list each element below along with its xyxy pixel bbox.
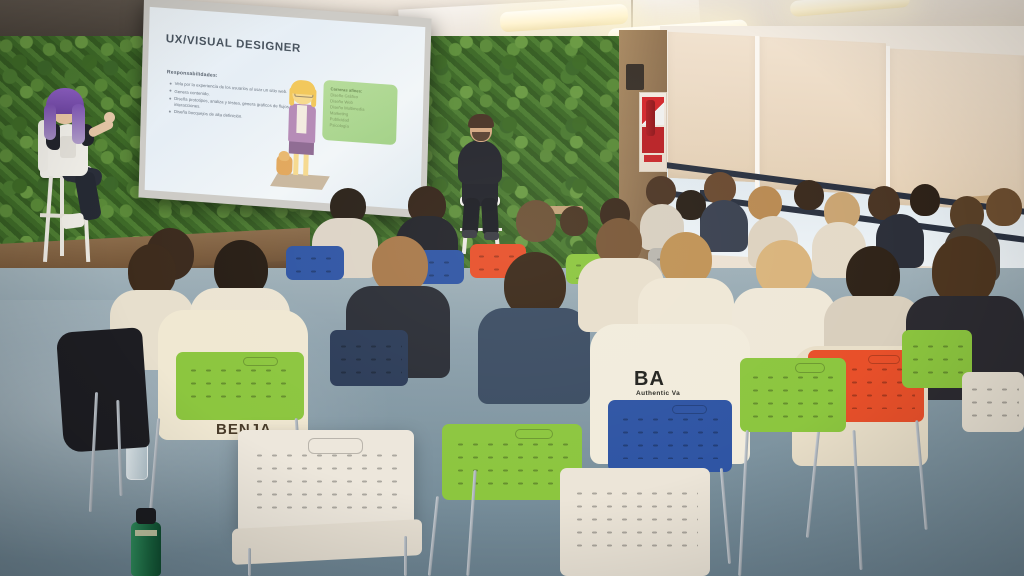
bullet-dot-icon — [169, 97, 171, 99]
audience-head — [748, 186, 782, 220]
chair-green — [740, 358, 846, 432]
chair-blue — [608, 400, 732, 472]
ceiling-hanger — [631, 0, 633, 28]
chair-blue — [330, 330, 408, 386]
chair-cream — [962, 372, 1024, 432]
photo-scene: UX/VISUAL DESIGNER Responsabilidades: Ve… — [0, 0, 1024, 576]
empty-chair-cream[interactable] — [560, 468, 710, 576]
audience-head — [560, 206, 588, 236]
audience-head — [516, 200, 556, 242]
garment-subtext: Authentic Va — [636, 390, 680, 397]
window-blind — [668, 32, 756, 183]
audience-head — [794, 180, 824, 210]
sneaker — [484, 232, 499, 240]
fire-extinguisher-icon — [646, 100, 655, 136]
blind-divider — [755, 36, 759, 196]
sneaker — [462, 230, 477, 238]
bullet-text: Genera contenido. — [174, 89, 209, 97]
garment-text: BA — [634, 368, 665, 391]
audience-head — [910, 184, 940, 216]
projection-screen: UX/VISUAL DESIGNER Responsabilidades: Ve… — [138, 0, 431, 219]
related-careers-box: Carreras afines: Diseño Gráfico Diseño W… — [322, 80, 398, 145]
audience-head — [986, 188, 1022, 226]
bullet-dot-icon — [170, 82, 172, 84]
window-blind — [760, 37, 886, 196]
chair-blue — [286, 246, 344, 280]
slide-section-label: Responsabilidades: — [167, 69, 218, 79]
audience-torso — [478, 308, 590, 404]
ceiling-shadow — [0, 0, 150, 40]
bullet-dot-icon — [169, 110, 171, 112]
wall-fixture — [626, 64, 644, 90]
audience-head — [704, 172, 736, 204]
bullet-dot-icon — [169, 90, 171, 92]
slide-title: UX/VISUAL DESIGNER — [166, 33, 301, 55]
draped-jacket — [56, 327, 150, 453]
empty-chair-cream[interactable] — [238, 430, 414, 534]
designer-character-illustration — [276, 78, 327, 197]
audience-head — [646, 176, 676, 206]
slide-surface: UX/VISUAL DESIGNER Responsabilidades: Ve… — [145, 7, 426, 210]
chair-green — [176, 352, 304, 420]
